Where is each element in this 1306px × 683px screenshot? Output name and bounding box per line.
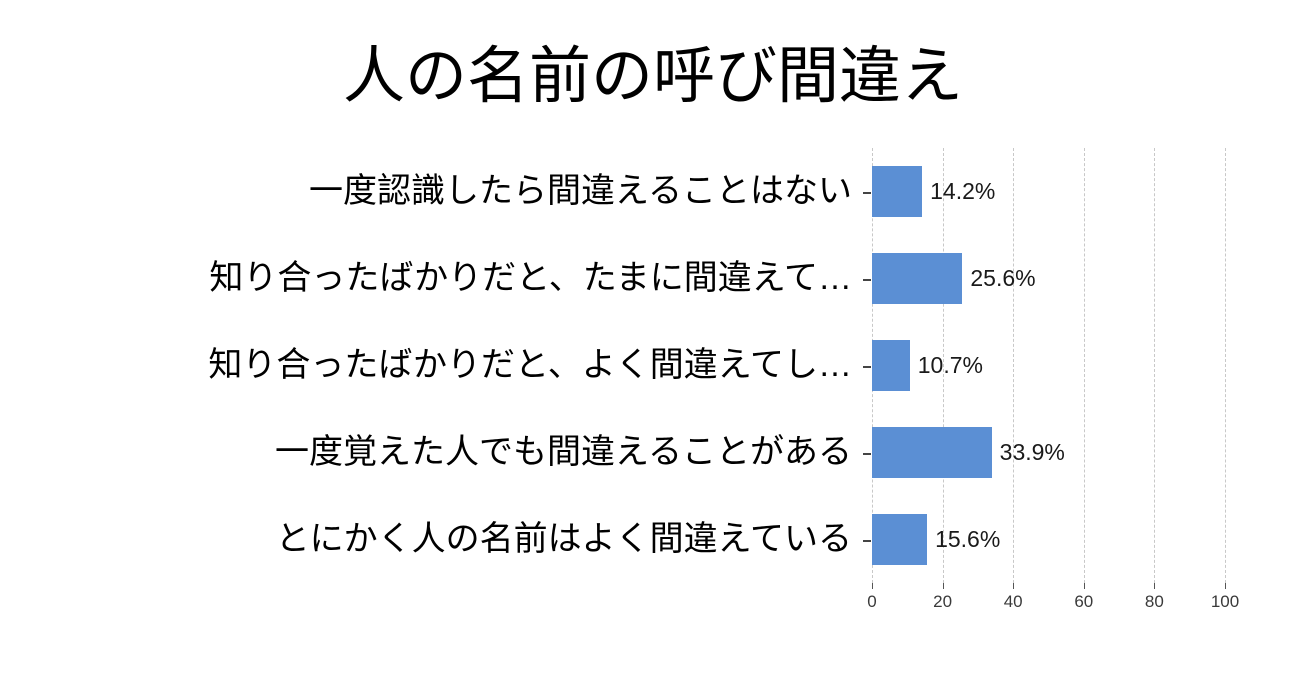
y-tick-mark [863,540,871,542]
x-tick-mark-20 [943,583,944,589]
x-tick-label-0: 0 [867,592,876,612]
x-tick-mark-0 [872,583,873,589]
chart-canvas: 人の名前の呼び間違え 一度認識したら間違えることはない 知り合ったばかりだと、た… [0,0,1306,683]
x-tick-label-80: 80 [1145,592,1164,612]
bar-row: 25.6% [872,235,1225,322]
bar-value-label-1: 25.6% [970,267,1035,290]
gridline-100 [1225,148,1226,583]
bar-row: 10.7% [872,322,1225,409]
bar-row: 15.6% [872,496,1225,583]
bar-row: 14.2% [872,148,1225,235]
y-tick-mark [863,453,871,455]
bar-1[interactable] [872,253,962,304]
bar-2[interactable] [872,340,910,391]
x-tick-mark-40 [1013,583,1014,589]
bar-value-label-0: 14.2% [930,180,995,203]
x-tick-label-40: 40 [1004,592,1023,612]
bar-0[interactable] [872,166,922,217]
category-label-2: 知り合ったばかりだと、よく間違えてし… [208,348,852,382]
plot-area: 14.2% 25.6% 10.7% 33.9% 15.6% 0 [872,148,1225,583]
x-tick-label-100: 100 [1211,592,1239,612]
bar-value-label-3: 33.9% [1000,441,1065,464]
y-tick-mark [863,279,871,281]
x-tick-mark-100 [1225,583,1226,589]
bar-value-label-4: 15.6% [935,528,1000,551]
category-label-4: とにかく人の名前はよく間違えている [276,522,852,556]
y-tick-mark [863,366,871,368]
y-tick-mark [863,192,871,194]
x-tick-label-60: 60 [1074,592,1093,612]
x-tick-mark-80 [1154,583,1155,589]
bar-4[interactable] [872,514,927,565]
page-title: 人の名前の呼び間違え [0,46,1306,108]
category-axis-labels: 一度認識したら間違えることはない 知り合ったばかりだと、たまに間違えて… 知り合… [0,148,862,583]
x-tick-mark-60 [1084,583,1085,589]
bar-3[interactable] [872,427,992,478]
category-label-3: 一度覚えた人でも間違えることがある [275,435,852,469]
bar-row: 33.9% [872,409,1225,496]
x-tick-label-20: 20 [933,592,952,612]
category-label-0: 一度認識したら間違えることはない [309,174,852,208]
bar-value-label-2: 10.7% [918,354,983,377]
category-label-1: 知り合ったばかりだと、たまに間違えて… [209,261,852,295]
